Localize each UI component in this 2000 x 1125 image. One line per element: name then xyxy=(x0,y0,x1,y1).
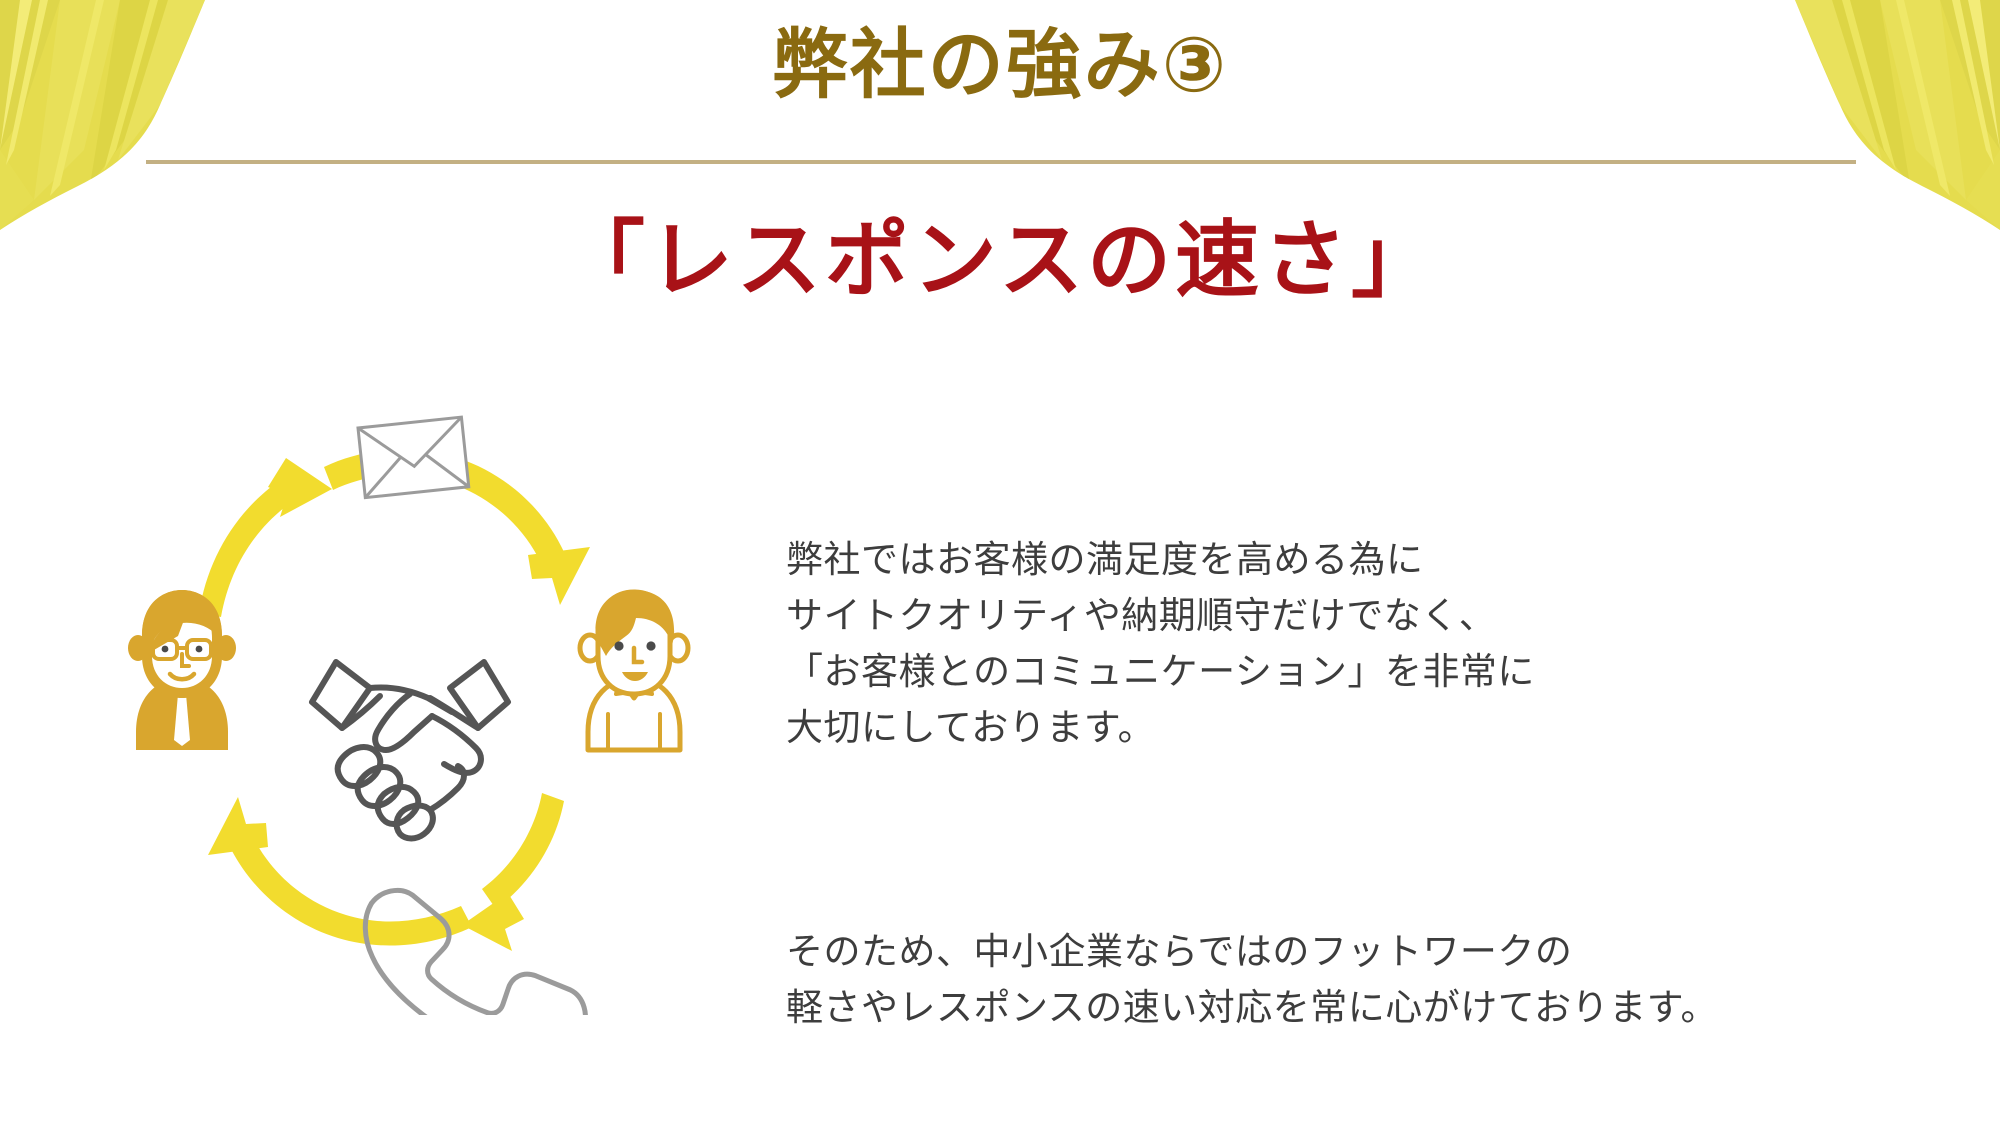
body-paragraph-1: 弊社ではお客様の満足度を高める為に サイトクオリティや納期順守だけでなく、 「お… xyxy=(786,532,1916,756)
body-copy: 弊社ではお客様の満足度を高める為に サイトクオリティや納期順守だけでなく、 「お… xyxy=(786,420,1916,1125)
communication-cycle-diagram xyxy=(120,395,700,1015)
slide-canvas: 弊社の強み③ 「レスポンスの速さ」 xyxy=(0,0,2000,1125)
title-divider xyxy=(146,160,1856,164)
envelope-icon xyxy=(358,417,469,497)
young-man-avatar xyxy=(580,590,688,750)
body-paragraph-2: そのため、中小企業ならではのフットワークの 軽さやレスポンスの速い対応を常に心が… xyxy=(786,924,1916,1036)
cycle-diagram-graphic xyxy=(120,395,700,1015)
bottom-counterclockwise-double-arrow-icon xyxy=(208,793,564,951)
page-title: 弊社の強み③ xyxy=(0,24,2000,106)
subtitle-heading: 「レスポンスの速さ」 xyxy=(0,213,2000,307)
handshake-icon xyxy=(312,662,508,839)
